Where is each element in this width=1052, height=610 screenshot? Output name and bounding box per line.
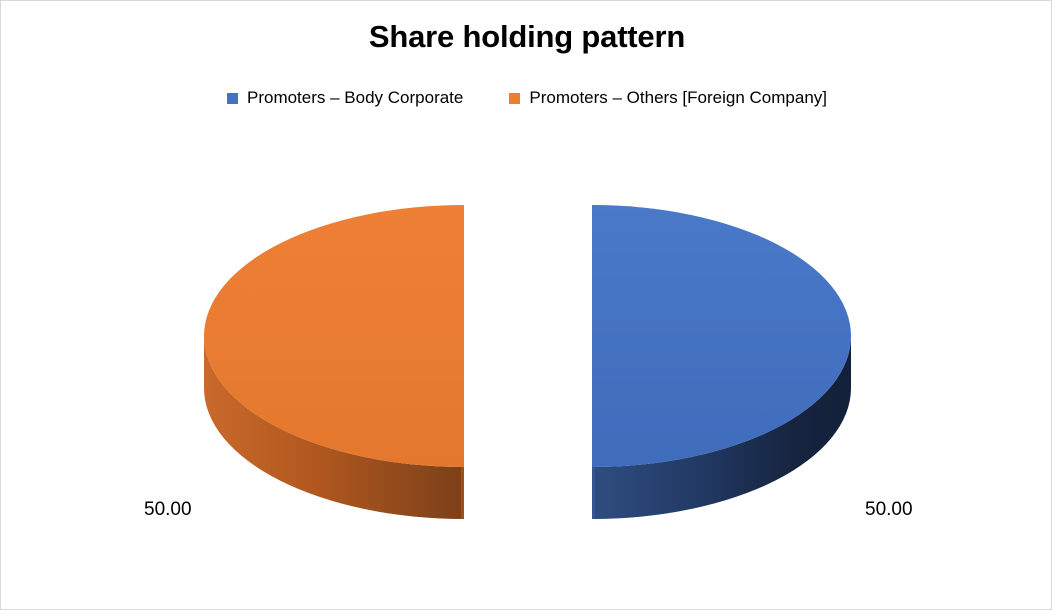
- pie-slice-body-corporate[interactable]: [592, 205, 851, 519]
- chart-title: Share holding pattern: [1, 19, 1052, 55]
- chart-legend: Promoters – Body Corporate Promoters – O…: [1, 87, 1052, 109]
- legend-swatch-orange-icon: [509, 93, 520, 104]
- data-label-others-foreign-company: 50.00: [144, 499, 192, 521]
- legend-label-body-corporate: Promoters – Body Corporate: [247, 88, 463, 108]
- legend-item-others-foreign-company[interactable]: Promoters – Others [Foreign Company]: [509, 88, 827, 108]
- legend-swatch-blue-icon: [227, 93, 238, 104]
- chart-container: Share holding pattern Promoters – Body C…: [0, 0, 1052, 610]
- legend-item-body-corporate[interactable]: Promoters – Body Corporate: [227, 88, 463, 108]
- plot-area: 50.00 50.00: [1, 121, 1052, 591]
- legend-label-others-foreign-company: Promoters – Others [Foreign Company]: [529, 88, 827, 108]
- pie-slice-others-foreign-company[interactable]: [204, 205, 464, 519]
- data-label-body-corporate: 50.00: [865, 499, 913, 521]
